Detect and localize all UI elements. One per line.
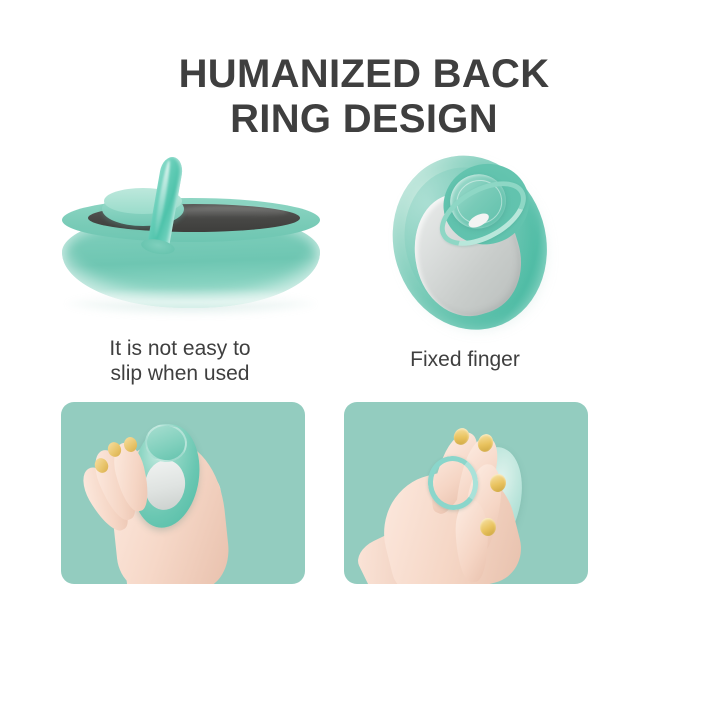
fingernail [480,518,496,536]
caption-non-slip: It is not easy to slip when used [60,336,300,386]
photo-panel-hand-holding-device [61,402,305,584]
hero-product-row [0,150,728,340]
photo-panel-finger-through-ring [344,402,588,584]
product-feature-page: HUMANIZED BACK RING DESIGN [0,0,728,709]
product-back-view-image [364,130,579,357]
page-title: HUMANIZED BACK RING DESIGN [0,52,728,142]
product-angled-view-image [48,164,338,324]
photo-panel-row [0,400,728,590]
caption-fixed-finger: Fixed finger [345,347,585,372]
